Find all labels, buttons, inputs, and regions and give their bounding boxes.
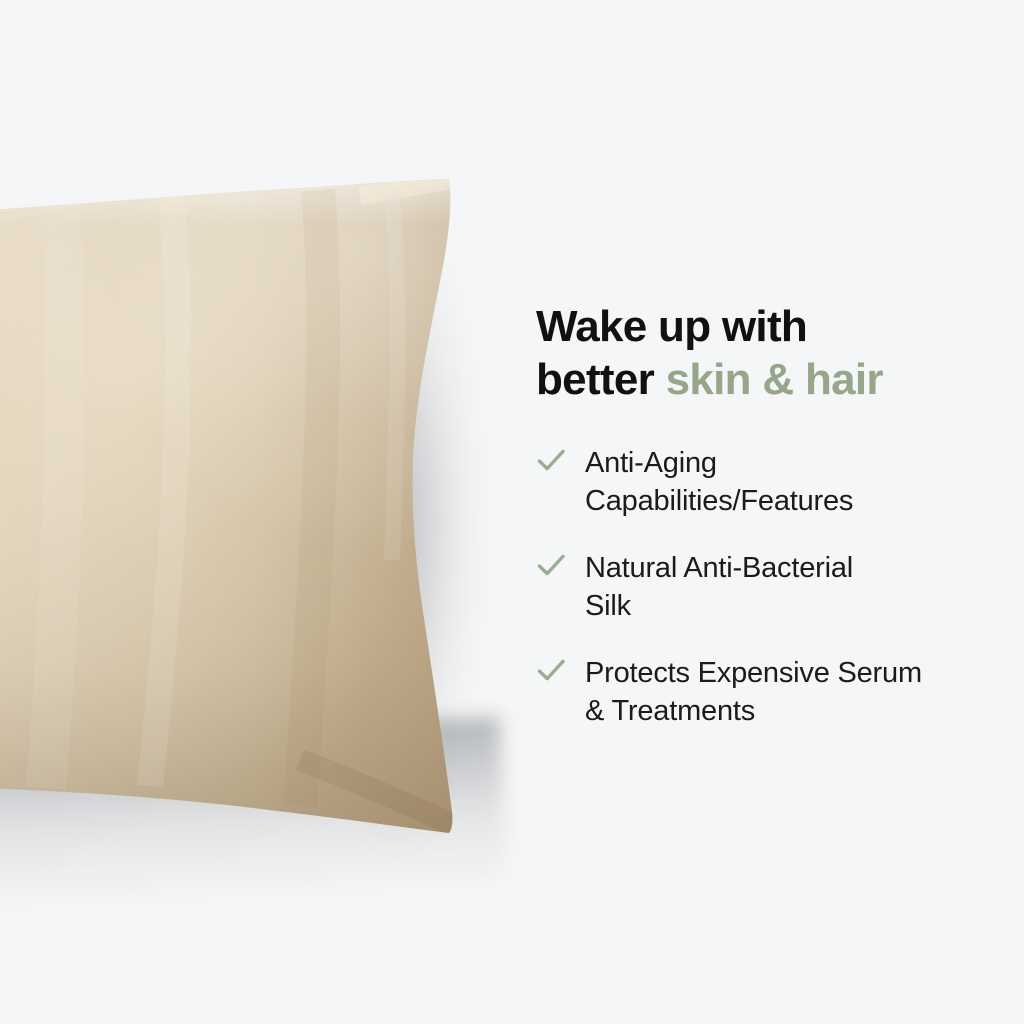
- benefit-item: Anti-Aging Capabilities/Features: [536, 444, 996, 520]
- benefit-label: Protects Expensive Serum & Treatments: [585, 654, 922, 730]
- check-icon: [536, 551, 566, 581]
- benefit-label: Anti-Aging Capabilities/Features: [585, 444, 853, 520]
- benefit-list: Anti-Aging Capabilities/Features Natural…: [536, 444, 996, 730]
- page-title: Wake up withbetter skin & hair: [536, 300, 996, 406]
- headline-line-2-accent: skin & hair: [666, 355, 883, 404]
- benefit-item: Protects Expensive Serum & Treatments: [536, 654, 996, 730]
- benefit-label: Natural Anti-Bacterial Silk: [585, 549, 853, 625]
- check-icon: [536, 656, 566, 686]
- headline-line-1: Wake up with: [536, 302, 807, 351]
- product-image: [0, 0, 520, 1024]
- benefit-item: Natural Anti-Bacterial Silk: [536, 549, 996, 625]
- check-icon: [536, 446, 566, 476]
- pillow-silhouette: [0, 0, 520, 1024]
- product-benefits-banner: Wake up withbetter skin & hair Anti-Agin…: [0, 0, 1024, 1024]
- benefits-copy-column: Wake up withbetter skin & hair Anti-Agin…: [536, 300, 996, 730]
- headline-line-2-plain: better: [536, 355, 666, 404]
